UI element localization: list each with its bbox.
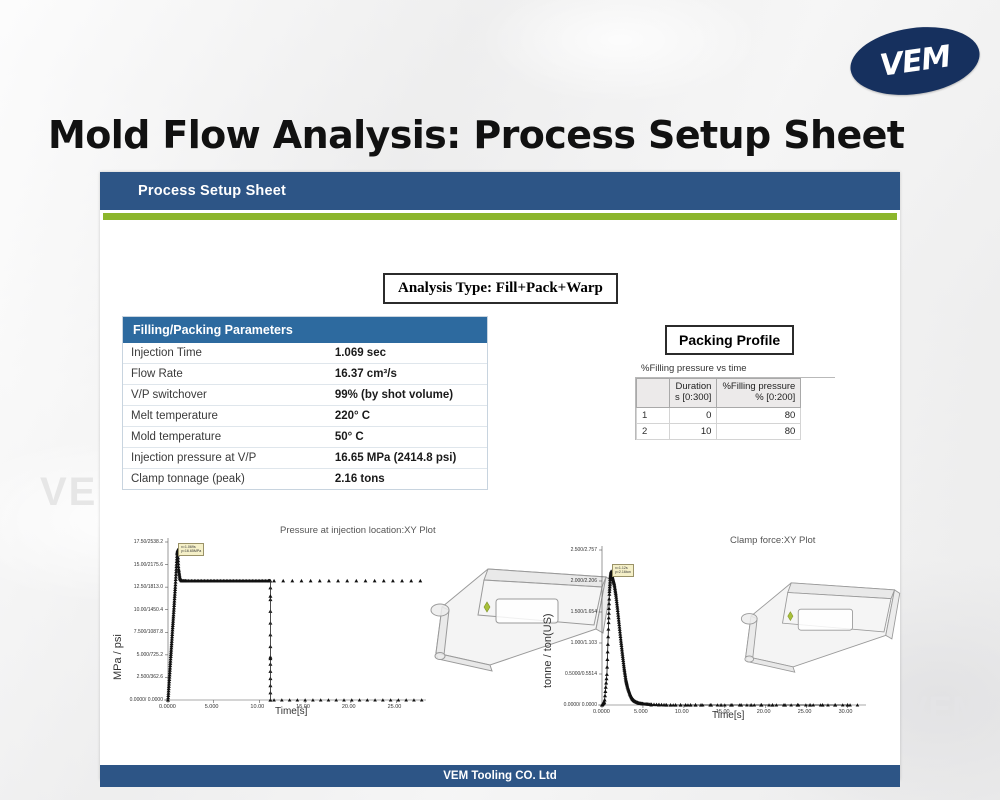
row-pressure: 80: [717, 423, 801, 439]
table-header-row: Duration s [0:300] %Filling pressure % […: [637, 379, 801, 408]
param-value: 1.069 sec: [327, 343, 487, 364]
x-tick-label: 5.000: [634, 709, 648, 715]
table-row: Flow Rate 16.37 cm³/s: [123, 364, 487, 385]
sheet-footer: VEM Tooling CO. Ltd: [100, 765, 900, 787]
col-filling-pressure: %Filling pressure % [0:200]: [717, 379, 801, 408]
y-tick-label: 7.500/1087.8: [110, 629, 163, 635]
y-tick-label: 17.50/2538.2: [110, 539, 163, 545]
param-value: 50° C: [327, 427, 487, 448]
y-tick-label: 1.000/1.103: [540, 640, 597, 646]
x-tick-label: 20.00: [342, 704, 356, 710]
y-tick-label: 1.500/1.654: [540, 609, 597, 615]
sheet-accent-bar: [103, 213, 897, 220]
param-key: Clamp tonnage (peak): [123, 469, 327, 490]
sheet-body: Analysis Type: Fill+Pack+Warp Filling/Pa…: [100, 220, 900, 765]
y-tick-label: 15.00/2175.6: [110, 562, 163, 568]
x-tick-label: 10.00: [675, 709, 689, 715]
pressure-chart-annotation: x=1.069s y=16.65MPa: [178, 543, 204, 556]
x-tick-label: 30.00: [839, 709, 853, 715]
page-title: Mold Flow Analysis: Process Setup Sheet: [48, 113, 904, 157]
table-row: Clamp tonnage (peak) 2.16 tons: [123, 469, 487, 490]
table-row: Injection Time 1.069 sec: [123, 343, 487, 364]
col-pressure-line2: % [0:200]: [722, 393, 795, 404]
x-tick-label: 15.00: [296, 704, 310, 710]
table-row: 1 0 80: [637, 407, 801, 423]
table-row: Melt temperature 220° C: [123, 406, 487, 427]
param-value: 99% (by shot volume): [327, 385, 487, 406]
y-tick-label: 5.000/725.2: [110, 652, 163, 658]
vem-logo: VEM: [850, 28, 980, 94]
background-watermark-secondary: VEM: [905, 690, 982, 729]
y-tick-label: 2.000/2.206: [540, 578, 597, 584]
row-duration: 0: [670, 407, 717, 423]
filling-packing-parameters-table: Filling/Packing Parameters Injection Tim…: [122, 316, 488, 490]
param-key: Injection pressure at V/P: [123, 448, 327, 469]
param-value: 16.37 cm³/s: [327, 364, 487, 385]
packing-profile-frame: Duration s [0:300] %Filling pressure % […: [635, 377, 835, 440]
table-row: 2 10 80: [637, 423, 801, 439]
annotation-line2: y=16.65MPa: [181, 549, 201, 553]
row-index: 1: [637, 407, 670, 423]
y-tick-label: 0.0000/ 0.0000: [540, 702, 597, 708]
packing-profile-legend: %Filling pressure vs time: [635, 363, 835, 377]
clamp-force-chart-annotation: x=1.12s y=2.16ton: [612, 564, 634, 577]
sheet-footer-text: VEM Tooling CO. Ltd: [443, 770, 557, 782]
packing-profile-box: Packing Profile: [665, 325, 794, 355]
param-key: V/P switchover: [123, 385, 327, 406]
x-tick-label: 0.0000: [159, 704, 176, 710]
annotation-line2: y=2.16ton: [615, 570, 631, 574]
logo-text: VEM: [846, 19, 984, 102]
y-tick-label: 0.5000/0.5514: [540, 671, 597, 677]
table-row: Mold temperature 50° C: [123, 427, 487, 448]
y-tick-label: 12.50/1813.0: [110, 584, 163, 590]
y-tick-label: 10.00/1450.4: [110, 607, 163, 613]
row-index: 2: [637, 423, 670, 439]
pressure-chart: Pressure at injection location:XY Plot M…: [110, 530, 430, 730]
row-pressure: 80: [717, 407, 801, 423]
x-tick-label: 0.0000: [593, 709, 610, 715]
x-tick-label: 20.00: [757, 709, 771, 715]
param-value: 2.16 tons: [327, 469, 487, 490]
param-key: Flow Rate: [123, 364, 327, 385]
table-row: V/P switchover 99% (by shot volume): [123, 385, 487, 406]
x-tick-label: 5.000: [205, 704, 219, 710]
param-key: Melt temperature: [123, 406, 327, 427]
process-setup-sheet: Process Setup Sheet Analysis Type: Fill+…: [100, 172, 900, 780]
params-table: Injection Time 1.069 sec Flow Rate 16.37…: [123, 343, 487, 489]
packing-profile-table: Duration s [0:300] %Filling pressure % […: [636, 378, 801, 440]
table-row: Injection pressure at V/P 16.65 MPa (241…: [123, 448, 487, 469]
param-value: 220° C: [327, 406, 487, 427]
x-tick-label: 25.00: [388, 704, 402, 710]
col-duration-line2: s [0:300]: [675, 393, 711, 404]
analysis-type-box: Analysis Type: Fill+Pack+Warp: [383, 273, 618, 304]
row-duration: 10: [670, 423, 717, 439]
y-tick-label: 0.0000/ 0.0000: [110, 697, 163, 703]
col-index: [637, 379, 670, 408]
sheet-header: Process Setup Sheet: [100, 172, 900, 210]
x-tick-label: 25.00: [798, 709, 812, 715]
x-tick-label: 10.00: [250, 704, 264, 710]
packing-profile-panel: %Filling pressure vs time Duration s [0:…: [635, 363, 835, 440]
params-table-header: Filling/Packing Parameters: [123, 317, 487, 343]
y-tick-label: 2.500/2.757: [540, 547, 597, 553]
sheet-header-title: Process Setup Sheet: [138, 183, 286, 199]
molded-part-render-right: [730, 570, 905, 685]
param-key: Injection Time: [123, 343, 327, 364]
param-value: 16.65 MPa (2414.8 psi): [327, 448, 487, 469]
col-duration: Duration s [0:300]: [670, 379, 717, 408]
y-tick-label: 2.500/362.6: [110, 674, 163, 680]
x-tick-label: 15.00: [716, 709, 730, 715]
param-key: Mold temperature: [123, 427, 327, 448]
